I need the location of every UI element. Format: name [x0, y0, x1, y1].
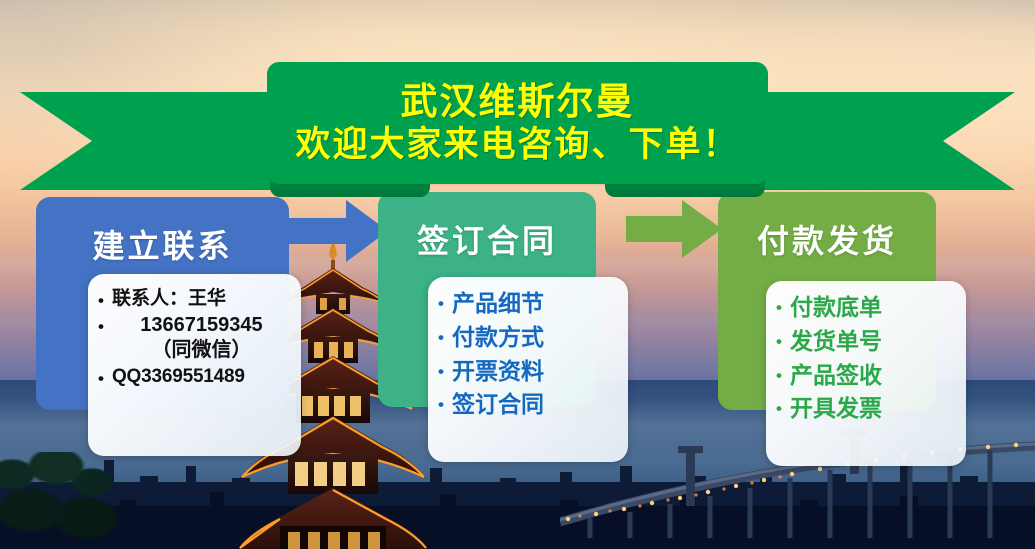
list-item: • 开具发票: [776, 396, 956, 422]
shipping-item-1: 付款底单: [790, 295, 956, 321]
step-card-body-payment-shipping: • 付款底单 • 发货单号 • 产品签收 • 开具发票: [766, 281, 966, 466]
bullet-dot-icon: •: [98, 366, 104, 387]
list-item: • 付款底单: [776, 295, 956, 321]
contract-bullet-list: • 产品细节 • 付款方式 • 开票资料 • 签订合同: [438, 291, 618, 418]
contract-item-2: 付款方式: [452, 325, 618, 351]
list-item: • 签订合同: [438, 392, 618, 418]
banner-title-line2: 欢迎大家来电咨询、下单！: [295, 124, 739, 166]
list-item: • 13667159345 （同微信）: [98, 314, 291, 361]
contract-item-4: 签订合同: [452, 392, 618, 418]
step-title-3: 付款发货: [757, 216, 897, 262]
contact-person: 联系人：王华: [112, 288, 291, 309]
shipping-bullet-list: • 付款底单 • 发货单号 • 产品签收 • 开具发票: [776, 295, 956, 422]
step-title-2: 签订合同: [417, 216, 557, 262]
bullet-dot-icon: •: [98, 288, 104, 309]
contract-item-3: 开票资料: [452, 359, 618, 385]
contact-phone-block: 13667159345 （同微信）: [112, 314, 291, 361]
list-item: • 联系人：王华: [98, 288, 291, 309]
shipping-item-2: 发货单号: [790, 329, 956, 355]
bullet-dot-icon: •: [438, 359, 444, 380]
bullet-dot-icon: •: [98, 314, 104, 335]
list-item: • 付款方式: [438, 325, 618, 351]
bullet-dot-icon: •: [438, 392, 444, 413]
list-item: • 开票资料: [438, 359, 618, 385]
arrow-right-icon-step1-to-step2: [284, 200, 388, 262]
list-item: • 产品签收: [776, 363, 956, 389]
bullet-dot-icon: •: [776, 363, 782, 384]
poster-canvas: 武汉维斯尔曼 欢迎大家来电咨询、下单！ 建立联系 • 联系人：王华 • 1366…: [0, 0, 1035, 549]
list-item: • 发货单号: [776, 329, 956, 355]
ribbon-tail-right: [735, 92, 1035, 190]
banner-title-line1: 武汉维斯尔曼: [401, 80, 635, 124]
banner-center-panel: 武汉维斯尔曼 欢迎大家来电咨询、下单！: [267, 62, 768, 184]
contact-phone: 13667159345: [140, 314, 262, 336]
step-card-body-establish-contact: • 联系人：王华 • 13667159345 （同微信） • QQ3369551…: [88, 274, 301, 456]
contract-item-1: 产品细节: [452, 291, 618, 317]
ribbon-tail-left: [0, 92, 300, 190]
contact-bullet-list: • 联系人：王华 • 13667159345 （同微信） • QQ3369551…: [98, 288, 291, 387]
contact-qq: QQ3369551489: [112, 366, 291, 387]
list-item: • QQ3369551489: [98, 366, 291, 387]
bullet-dot-icon: •: [776, 295, 782, 316]
step-card-body-sign-contract: • 产品细节 • 付款方式 • 开票资料 • 签订合同: [428, 277, 628, 462]
arrow-right-icon-step2-to-step3: [626, 200, 722, 258]
bullet-dot-icon: •: [438, 325, 444, 346]
background-foreground-tree: [0, 452, 136, 549]
shipping-item-3: 产品签收: [790, 363, 956, 389]
shipping-item-4: 开具发票: [790, 396, 956, 422]
bullet-dot-icon: •: [776, 396, 782, 417]
step-title-1: 建立联系: [92, 221, 232, 267]
contact-phone-note: （同微信）: [112, 339, 291, 361]
banner-ribbon: 武汉维斯尔曼 欢迎大家来电咨询、下单！: [0, 30, 1035, 190]
list-item: • 产品细节: [438, 291, 618, 317]
bullet-dot-icon: •: [776, 329, 782, 350]
bullet-dot-icon: •: [438, 291, 444, 312]
